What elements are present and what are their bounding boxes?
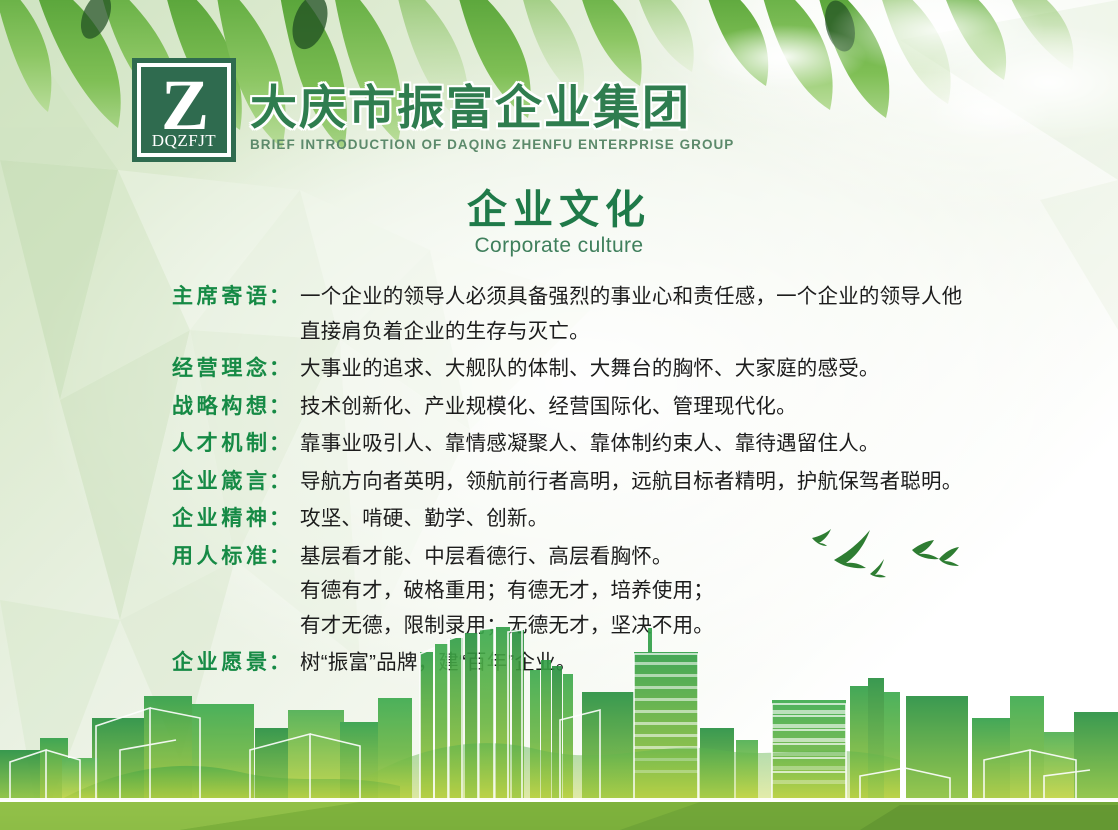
culture-row-colon: ： bbox=[269, 540, 290, 574]
label-char: 精 bbox=[221, 502, 242, 536]
culture-row-colon: ： bbox=[269, 352, 290, 386]
page-subtitle: Corporate culture bbox=[0, 234, 1118, 258]
company-logo: Z DQZFJT bbox=[132, 58, 236, 162]
culture-row-label: 企业愿景： bbox=[172, 646, 290, 680]
label-char: 念 bbox=[246, 352, 267, 386]
culture-row-line: 树“振富”品牌，建“百年”企业。 bbox=[300, 646, 1052, 681]
culture-row: 战略构想：技术创新化、产业规模化、经营国际化、管理现代化。 bbox=[172, 390, 1052, 425]
culture-row: 企业愿景：树“振富”品牌，建“百年”企业。 bbox=[172, 646, 1052, 681]
label-char: 构 bbox=[221, 390, 242, 424]
culture-row-line: 一个企业的领导人必须具备强烈的事业心和责任感，一个企业的领导人他 bbox=[300, 280, 1052, 315]
culture-row-label: 用人标准： bbox=[172, 540, 290, 574]
culture-row-label: 人才机制： bbox=[172, 427, 290, 461]
culture-row-label: 企业精神： bbox=[172, 502, 290, 536]
culture-row: 主席寄语：一个企业的领导人必须具备强烈的事业心和责任感，一个企业的领导人他直接肩… bbox=[172, 280, 1052, 349]
culture-row-label: 主席寄语： bbox=[172, 280, 290, 314]
label-char: 景 bbox=[246, 646, 267, 680]
label-char: 企 bbox=[172, 646, 193, 680]
culture-row-line: 靠事业吸引人、靠情感凝聚人、靠体制约束人、靠待遇留住人。 bbox=[300, 427, 1052, 462]
label-char: 营 bbox=[197, 352, 218, 386]
culture-row-colon: ： bbox=[269, 427, 290, 461]
brand-header: Z DQZFJT 大庆市振富企业集团 BRIEF INTRODUCTION OF… bbox=[132, 58, 734, 162]
culture-row-body: 大事业的追求、大舰队的体制、大舞台的胸怀、大家庭的感受。 bbox=[290, 352, 1052, 387]
culture-row: 经营理念：大事业的追求、大舰队的体制、大舞台的胸怀、大家庭的感受。 bbox=[172, 352, 1052, 387]
label-char: 企 bbox=[172, 502, 193, 536]
culture-row-body: 技术创新化、产业规模化、经营国际化、管理现代化。 bbox=[290, 390, 1052, 425]
company-name-en: BRIEF INTRODUCTION OF DAQING ZHENFU ENTE… bbox=[250, 137, 734, 152]
logo-abbreviation: DQZFJT bbox=[141, 131, 227, 151]
culture-row-line: 导航方向者英明，领航前行者高明，远航目标者精明，护航保驾者聪明。 bbox=[300, 465, 1052, 500]
culture-row-label-text: 用人标准 bbox=[172, 540, 269, 574]
culture-row-line: 有才无德，限制录用；无德无才，坚决不用。 bbox=[300, 609, 1052, 644]
culture-row-label-text: 企业精神 bbox=[172, 502, 269, 536]
label-char: 才 bbox=[197, 427, 218, 461]
page-title: 企业文化 bbox=[0, 188, 1118, 232]
culture-row: 用人标准：基层看才能、中层看德行、高层看胸怀。有德有才，破格重用；有德无才，培养… bbox=[172, 540, 1052, 644]
culture-row-body: 导航方向者英明，领航前行者高明，远航目标者精明，护航保驾者聪明。 bbox=[290, 465, 1052, 500]
culture-content-list: 主席寄语：一个企业的领导人必须具备强烈的事业心和责任感，一个企业的领导人他直接肩… bbox=[172, 280, 1052, 684]
culture-row-line: 攻坚、啃硬、勤学、创新。 bbox=[300, 502, 1052, 537]
culture-row-label-text: 战略构想 bbox=[172, 390, 269, 424]
culture-row-colon: ： bbox=[269, 502, 290, 536]
label-char: 企 bbox=[172, 465, 193, 499]
culture-row-line: 有德有才，破格重用；有德无才，培养使用； bbox=[300, 574, 1052, 609]
label-char: 业 bbox=[197, 646, 218, 680]
label-char: 席 bbox=[197, 280, 218, 314]
label-char: 经 bbox=[172, 352, 193, 386]
label-char: 机 bbox=[221, 427, 242, 461]
culture-row-body: 靠事业吸引人、靠情感凝聚人、靠体制约束人、靠待遇留住人。 bbox=[290, 427, 1052, 462]
culture-row-body: 一个企业的领导人必须具备强烈的事业心和责任感，一个企业的领导人他直接肩负着企业的… bbox=[290, 280, 1052, 349]
label-char: 主 bbox=[172, 280, 193, 314]
culture-row-label-text: 企业愿景 bbox=[172, 646, 269, 680]
culture-row-body: 攻坚、啃硬、勤学、创新。 bbox=[290, 502, 1052, 537]
label-char: 准 bbox=[246, 540, 267, 574]
label-char: 标 bbox=[221, 540, 242, 574]
label-char: 人 bbox=[197, 540, 218, 574]
label-char: 寄 bbox=[221, 280, 242, 314]
cloud-decoration bbox=[688, 0, 1118, 150]
culture-row-line: 直接肩负着企业的生存与灭亡。 bbox=[300, 315, 1052, 350]
label-char: 言 bbox=[246, 465, 267, 499]
label-char: 战 bbox=[172, 390, 193, 424]
label-char: 想 bbox=[246, 390, 267, 424]
label-char: 制 bbox=[246, 427, 267, 461]
culture-row-label-text: 经营理念 bbox=[172, 352, 269, 386]
brand-text: 大庆市振富企业集团 BRIEF INTRODUCTION OF DAQING Z… bbox=[250, 58, 734, 152]
culture-row-line: 基层看才能、中层看德行、高层看胸怀。 bbox=[300, 540, 1052, 575]
label-char: 业 bbox=[197, 502, 218, 536]
label-char: 业 bbox=[197, 465, 218, 499]
logo-inner-block: Z DQZFJT bbox=[141, 67, 227, 153]
company-name-cn: 大庆市振富企业集团 bbox=[250, 84, 734, 132]
culture-row-body: 树“振富”品牌，建“百年”企业。 bbox=[290, 646, 1052, 681]
culture-row: 人才机制：靠事业吸引人、靠情感凝聚人、靠体制约束人、靠待遇留住人。 bbox=[172, 427, 1052, 462]
section-title-block: 企业文化 Corporate culture bbox=[0, 188, 1118, 258]
label-char: 用 bbox=[172, 540, 193, 574]
label-char: 语 bbox=[246, 280, 267, 314]
culture-row-label: 经营理念： bbox=[172, 352, 290, 386]
corporate-culture-poster: Z DQZFJT 大庆市振富企业集团 BRIEF INTRODUCTION OF… bbox=[0, 0, 1118, 830]
culture-row-colon: ： bbox=[269, 465, 290, 499]
label-char: 略 bbox=[197, 390, 218, 424]
culture-row: 企业精神：攻坚、啃硬、勤学、创新。 bbox=[172, 502, 1052, 537]
culture-row-colon: ： bbox=[269, 646, 290, 680]
culture-row: 企业箴言：导航方向者英明，领航前行者高明，远航目标者精明，护航保驾者聪明。 bbox=[172, 465, 1052, 500]
culture-row-label: 战略构想： bbox=[172, 390, 290, 424]
culture-row-label-text: 人才机制 bbox=[172, 427, 269, 461]
label-char: 箴 bbox=[221, 465, 242, 499]
label-char: 人 bbox=[172, 427, 193, 461]
label-char: 理 bbox=[221, 352, 242, 386]
culture-row-colon: ： bbox=[269, 280, 290, 314]
culture-row-body: 基层看才能、中层看德行、高层看胸怀。有德有才，破格重用；有德无才，培养使用；有才… bbox=[290, 540, 1052, 644]
culture-row-label: 企业箴言： bbox=[172, 465, 290, 499]
culture-row-colon: ： bbox=[269, 390, 290, 424]
label-char: 神 bbox=[246, 502, 267, 536]
culture-row-line: 技术创新化、产业规模化、经营国际化、管理现代化。 bbox=[300, 390, 1052, 425]
label-char: 愿 bbox=[221, 646, 242, 680]
culture-row-label-text: 企业箴言 bbox=[172, 465, 269, 499]
culture-row-line: 大事业的追求、大舰队的体制、大舞台的胸怀、大家庭的感受。 bbox=[300, 352, 1052, 387]
culture-row-label-text: 主席寄语 bbox=[172, 280, 269, 314]
